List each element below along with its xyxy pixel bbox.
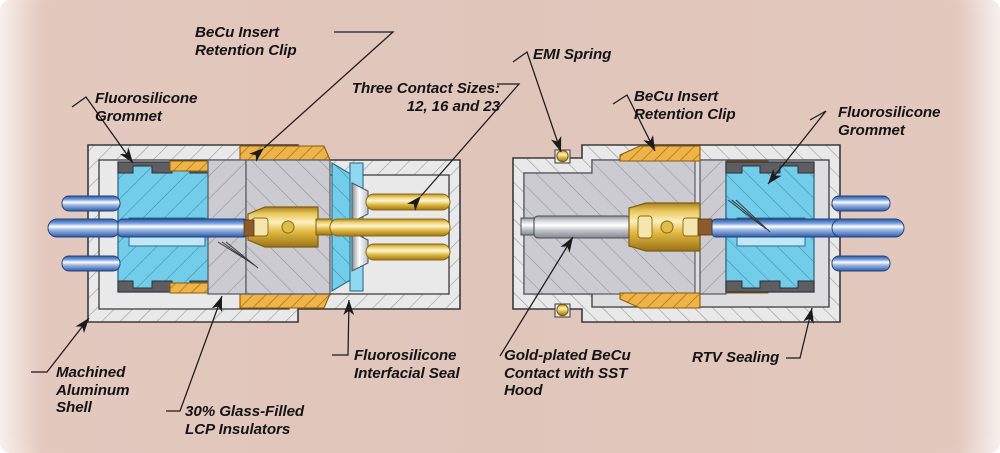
plug-half-left [48,145,460,322]
diagram-canvas: BeCu Insert Retention ClipThree Contact … [0,0,1000,453]
label-machined-aluminum-shell: Machined Aluminum Shell [56,364,129,417]
label-three-contact-sizes: Three Contact Sizes: 12, 16 and 23 [300,80,500,115]
label-becu-insert-retention-clip-left: BeCu Insert Retention Clip [195,24,297,59]
receptacle-half-right [513,145,904,322]
label-glass-filled-lcp-insulators: 30% Glass-Filled LCP Insulators [185,403,304,438]
leader-emi-spring [513,52,561,152]
connector-cutaway-illustration [0,0,1000,453]
label-gold-plated-becu-contact: Gold-plated BeCu Contact with SST Hood [504,347,631,400]
label-becu-insert-retention-clip-right: BeCu Insert Retention Clip [634,88,736,123]
label-fluorosilicone-grommet-right: Fluorosilicone Grommet [838,104,940,139]
label-rtv-sealing: RTV Sealing [692,349,779,367]
label-fluorosilicone-grommet-left: Fluorosilicone Grommet [95,90,197,125]
label-emi-spring: EMI Spring [533,46,611,64]
label-fluorosilicone-interfacial-seal: Fluorosilicone Interfacial Seal [354,347,460,382]
